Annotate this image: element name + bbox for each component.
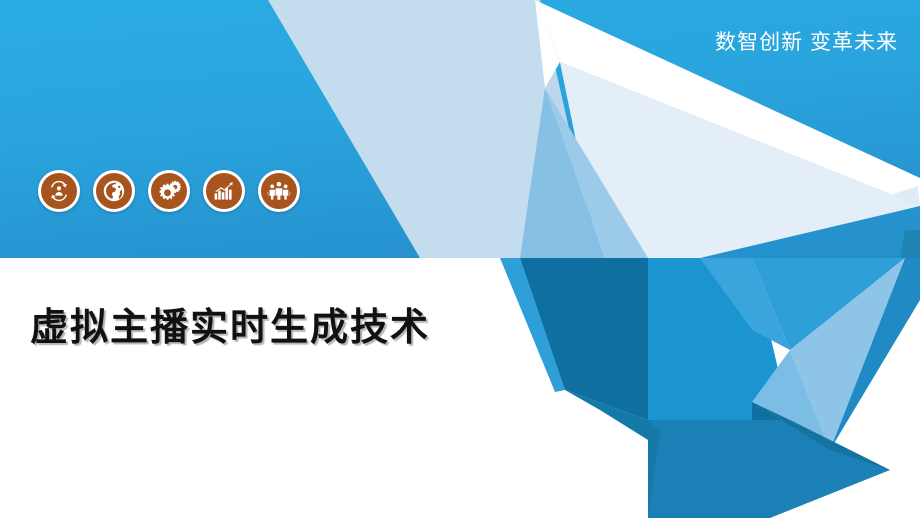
poly-pale-right-triangle-2 [752, 350, 830, 450]
gears-icon[interactable] [148, 170, 190, 212]
poly-dark-left-edge [520, 258, 565, 390]
poly-dark-left-facet [520, 258, 648, 420]
poly-right-column [830, 258, 920, 450]
poly-tail-nub [565, 390, 648, 440]
refresh-person-icon[interactable] [38, 170, 80, 212]
tagline: 数智创新 变革未来 [715, 26, 898, 56]
globe-icon[interactable] [93, 170, 135, 212]
poly-sky-center-facet [648, 258, 790, 420]
poly-left-sliver [500, 258, 565, 392]
slide-canvas: 数智创新 变革未来 [0, 0, 920, 518]
poly-bottom-tail-dark [752, 402, 890, 470]
poly-bottom-tail [648, 420, 890, 518]
poly-bottom-tail-edge [648, 420, 660, 518]
icon-row [38, 170, 300, 212]
bar-chart-growth-icon[interactable] [203, 170, 245, 212]
poly-upper-right-facet [752, 258, 905, 350]
poly-pale-right-triangle [790, 258, 905, 450]
page-title: 虚拟主播实时生成技术 [30, 296, 430, 351]
people-group-icon[interactable] [258, 170, 300, 212]
poly-deep-bottom-right [752, 402, 830, 460]
poly-upper-right-facet-2 [700, 258, 790, 350]
